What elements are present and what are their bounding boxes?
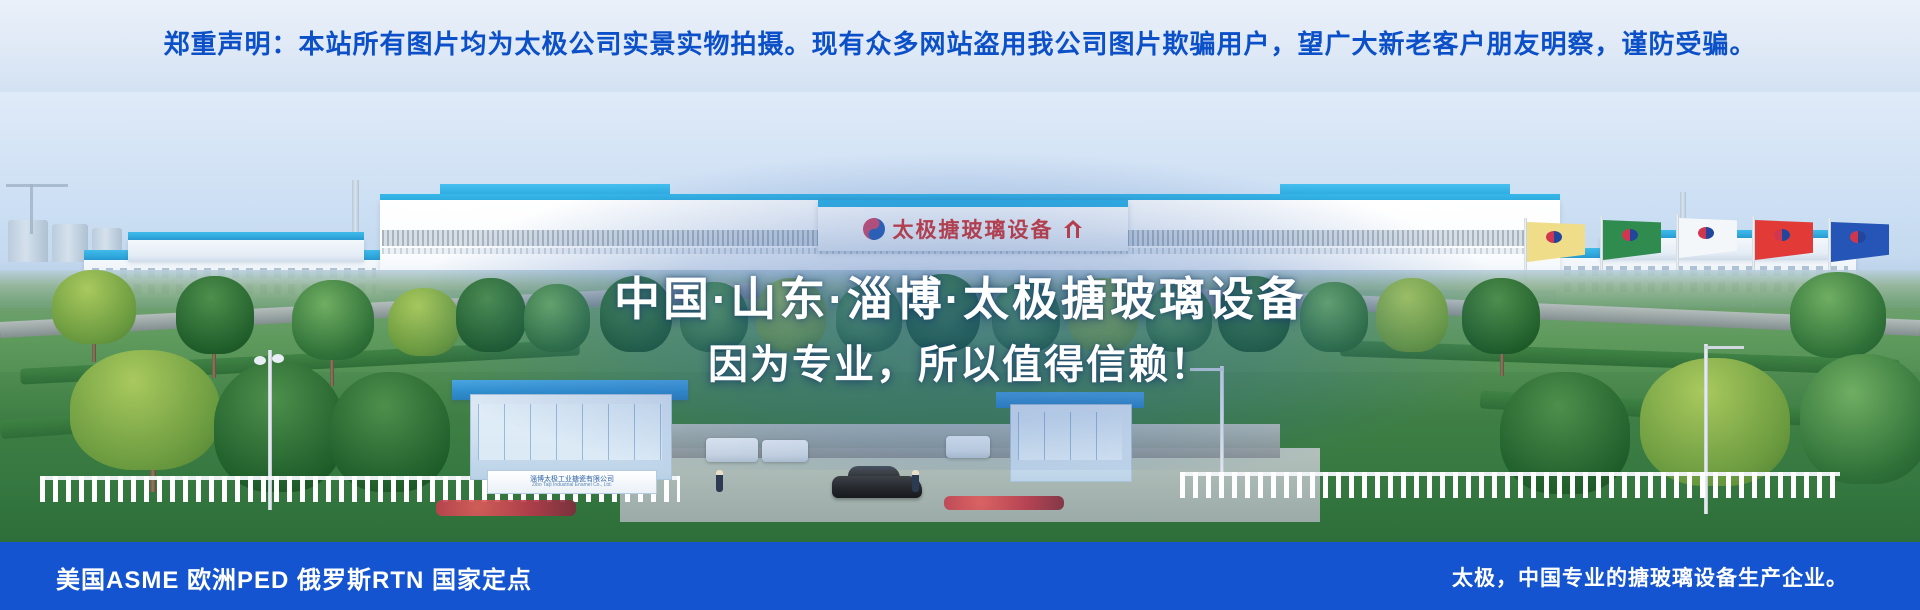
tree bbox=[992, 282, 1060, 352]
guard-booth-glass bbox=[1018, 412, 1122, 460]
tree bbox=[524, 284, 590, 352]
construction-crane bbox=[30, 184, 33, 234]
chimney bbox=[352, 180, 359, 238]
foreground-tree bbox=[70, 350, 220, 470]
tree bbox=[1218, 276, 1290, 352]
tree bbox=[1068, 278, 1138, 352]
flower-bed bbox=[944, 496, 1064, 510]
foreground-tree bbox=[1800, 354, 1920, 484]
tree bbox=[680, 282, 748, 352]
flag-emblem bbox=[1774, 229, 1790, 241]
tree bbox=[1462, 278, 1540, 354]
flower-bed bbox=[436, 500, 576, 516]
gatehouse-glass bbox=[478, 404, 662, 460]
tree bbox=[456, 278, 526, 352]
gatehouse-nameplate: 淄博太极工业搪瓷有限公司 Zibo Taiji Industrial Ename… bbox=[487, 470, 657, 494]
person bbox=[912, 470, 919, 492]
tree bbox=[600, 276, 672, 352]
flag-emblem bbox=[1850, 231, 1866, 243]
tree bbox=[292, 280, 374, 360]
slogan-text: 太极，中国专业的搪玻璃设备生产企业。 bbox=[1452, 562, 1848, 592]
yin-yang-icon bbox=[863, 218, 885, 240]
company-hero-banner: 郑重声明：本站所有图片均为太极公司实景实物拍摄。现有众多网站盗用我公司图片欺骗用… bbox=[0, 0, 1920, 610]
roof-label-left: TAI JI bbox=[408, 198, 472, 215]
parked-van bbox=[946, 436, 990, 458]
construction-crane-arm bbox=[6, 184, 68, 187]
tree bbox=[836, 284, 902, 352]
parked-van bbox=[762, 440, 808, 462]
lamp-arm bbox=[1704, 346, 1744, 349]
tree bbox=[1790, 272, 1886, 358]
flag-emblem bbox=[1546, 231, 1562, 243]
storage-tank bbox=[8, 220, 48, 262]
tree bbox=[176, 276, 254, 354]
certifications-text: 美国ASME 欧洲PED 俄罗斯RTN 国家定点 bbox=[56, 560, 532, 595]
foreground-tree bbox=[214, 362, 344, 492]
company-sign-text: 太极搪玻璃设备 bbox=[893, 214, 1054, 244]
picket-fence bbox=[1180, 472, 1840, 498]
tree bbox=[52, 270, 136, 344]
gatehouse-name-en: Zibo Taiji Industrial Enamel Co., Ltd. bbox=[532, 483, 612, 488]
gate-mark-icon bbox=[1062, 219, 1084, 239]
tree bbox=[388, 288, 460, 356]
tree bbox=[1376, 278, 1448, 352]
factory-photo-scene: TAI JI TAI JI 太极搪玻璃设备 bbox=[0, 72, 1920, 542]
flag-emblem bbox=[1622, 229, 1638, 241]
tree bbox=[1146, 284, 1212, 352]
tree bbox=[756, 278, 826, 352]
foreground-tree bbox=[1640, 358, 1790, 486]
copyright-notice-text: 郑重声明：本站所有图片均为太极公司实景实物拍摄。现有众多网站盗用我公司图片欺骗用… bbox=[0, 24, 1920, 61]
flag-emblem bbox=[1698, 227, 1714, 239]
lamp-arm bbox=[1190, 368, 1224, 371]
storage-tank bbox=[52, 224, 88, 262]
left-wing2-building bbox=[128, 240, 364, 262]
foreground-tree bbox=[330, 372, 450, 492]
company-signboard: 太极搪玻璃设备 bbox=[818, 200, 1128, 251]
tree bbox=[906, 274, 980, 352]
tree bbox=[1300, 282, 1368, 352]
lamp-head bbox=[254, 356, 266, 365]
street-lamp-pole bbox=[1220, 366, 1224, 486]
parked-van bbox=[706, 438, 758, 462]
lamp-head bbox=[272, 354, 284, 363]
person bbox=[716, 470, 723, 492]
parked-car bbox=[832, 476, 922, 498]
roof-label-right: TAI JI bbox=[1398, 198, 1462, 215]
notice-strip: 郑重声明：本站所有图片均为太极公司实景实物拍摄。现有众多网站盗用我公司图片欺骗用… bbox=[0, 0, 1920, 92]
footer-bar: 美国ASME 欧洲PED 俄罗斯RTN 国家定点 太极，中国专业的搪玻璃设备生产… bbox=[0, 542, 1920, 610]
